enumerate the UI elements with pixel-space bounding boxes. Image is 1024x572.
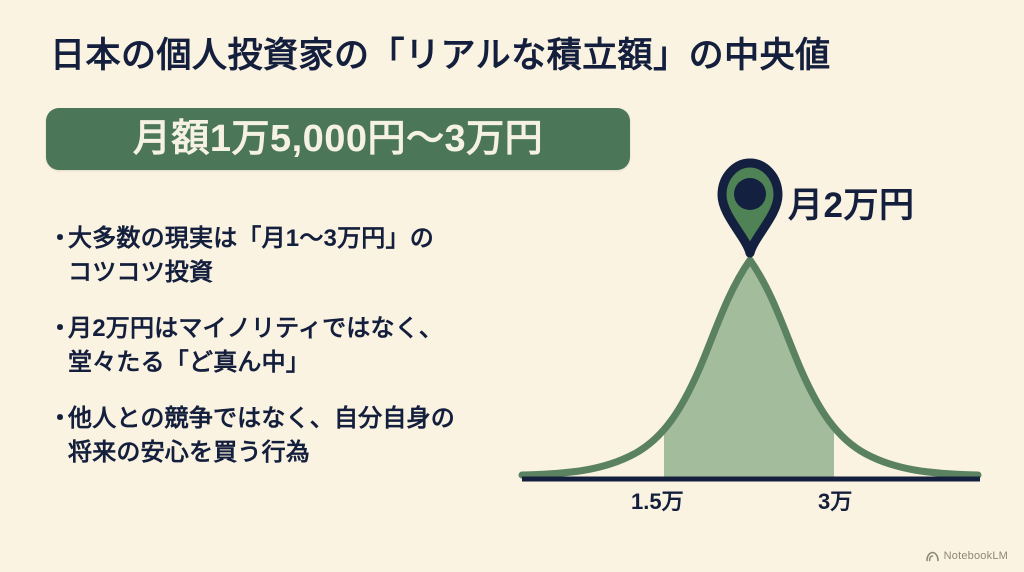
bullet-marker-icon: ・ [48,402,68,436]
x-axis-tick-label: 3万 [818,484,852,516]
list-item: ・ 他人との競争ではなく、自分自身の 将来の安心を買う行為 [48,402,528,470]
list-item-text: 大多数の現実は「月1〜3万円」の コツコツ投資 [68,222,434,290]
list-item: ・ 大多数の現実は「月1〜3万円」の コツコツ投資 [48,222,528,290]
list-item-text: 月2万円はマイノリティではなく、 堂々たる「ど真ん中」 [68,312,443,380]
page-title: 日本の個人投資家の「リアルな積立額」の中央値 [50,36,990,76]
bullet-list: ・ 大多数の現実は「月1〜3万円」の コツコツ投資 ・ 月2万円はマイノリティで… [48,222,528,492]
peak-marker-label: 月2万円 [788,177,914,228]
bell-curve-graphic [500,150,1000,510]
highlight-band-fill [522,260,978,478]
x-axis-tick-label: 1.5万 [631,484,684,516]
list-item-text: 他人との競争ではなく、自分自身の 将来の安心を買う行為 [68,402,455,470]
bullet-marker-icon: ・ [48,222,68,256]
headline-badge-label: 月額1万5,000円〜3万円 [133,120,543,158]
notebooklm-watermark: NotebookLM [926,550,1008,562]
map-pin-icon [722,163,778,253]
notebooklm-icon [926,551,939,562]
bullet-marker-icon: ・ [48,312,68,346]
distribution-chart: 月2万円 1.5万 3万 [500,150,1000,510]
list-item: ・ 月2万円はマイノリティではなく、 堂々たる「ど真ん中」 [48,312,528,380]
slide-canvas: 日本の個人投資家の「リアルな積立額」の中央値 月額1万5,000円〜3万円 ・ … [0,0,1024,572]
notebooklm-watermark-label: NotebookLM [944,550,1008,562]
